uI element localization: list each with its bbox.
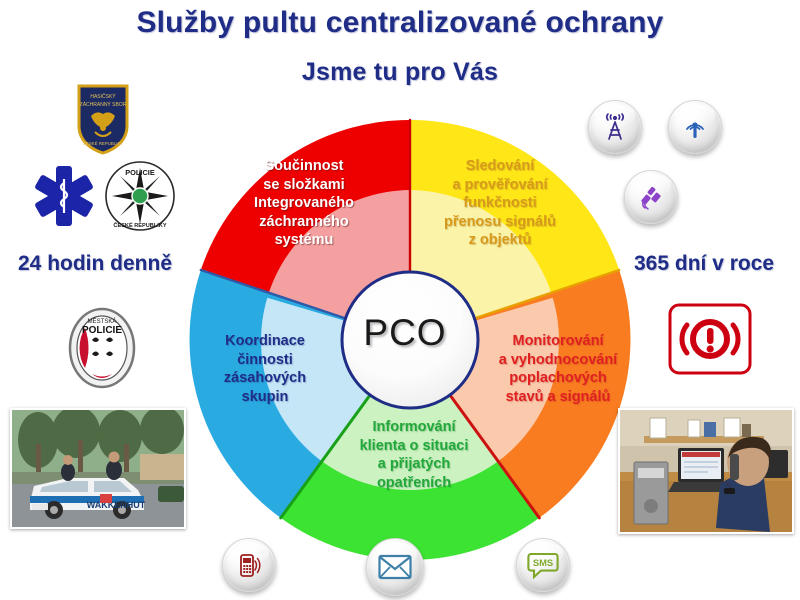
radio-tower-icon[interactable] <box>588 100 642 154</box>
svg-text:POLICIE: POLICIE <box>125 168 155 177</box>
svg-text:MĚSTSKÁ: MĚSTSKÁ <box>88 317 117 325</box>
mobile-phone-signal-icon[interactable] <box>222 538 276 592</box>
caption-365-days: 365 dní v roce <box>634 252 774 276</box>
monitoring-operator-photo <box>618 408 794 534</box>
alarm-warning-icon <box>668 303 752 380</box>
caption-24-hours: 24 hodin denně <box>18 252 172 276</box>
satellite-icon[interactable] <box>624 170 678 224</box>
star-of-life-emblem <box>31 163 97 234</box>
security-patrol-car-photo: WAKKENHUT <box>10 408 186 529</box>
sms-label: SMS <box>533 557 553 568</box>
svg-text:POLICIE: POLICIE <box>82 325 122 336</box>
pco-hub[interactable] <box>342 272 478 408</box>
police-cr-emblem: POLICIE ČESKÉ REPUBLIKY <box>104 160 176 237</box>
mestska-policie-emblem: MĚSTSKÁ POLICIE <box>66 306 138 395</box>
patrol-car-caption: WAKKENHUT <box>87 500 146 510</box>
svg-text:HASIČSKÝ: HASIČSKÝ <box>90 93 116 100</box>
pco-services-wheel <box>180 110 640 570</box>
fire-rescue-badge-emblem: HASIČSKÝ ZÁCHRANNÝ SBOR ČESKÉ REPUBLIKY <box>75 82 131 161</box>
email-envelope-icon[interactable] <box>366 538 424 596</box>
page-title: Služby pultu centralizované ochrany <box>0 6 800 40</box>
svg-text:ČESKÉ REPUBLIKY: ČESKÉ REPUBLIKY <box>83 141 124 146</box>
svg-text:ČESKÉ REPUBLIKY: ČESKÉ REPUBLIKY <box>113 221 166 229</box>
svg-text:ZÁCHRANNÝ SBOR: ZÁCHRANNÝ SBOR <box>80 101 127 108</box>
sms-bubble-icon[interactable]: SMS <box>516 538 570 592</box>
signal-broadcast-icon[interactable] <box>668 100 722 154</box>
